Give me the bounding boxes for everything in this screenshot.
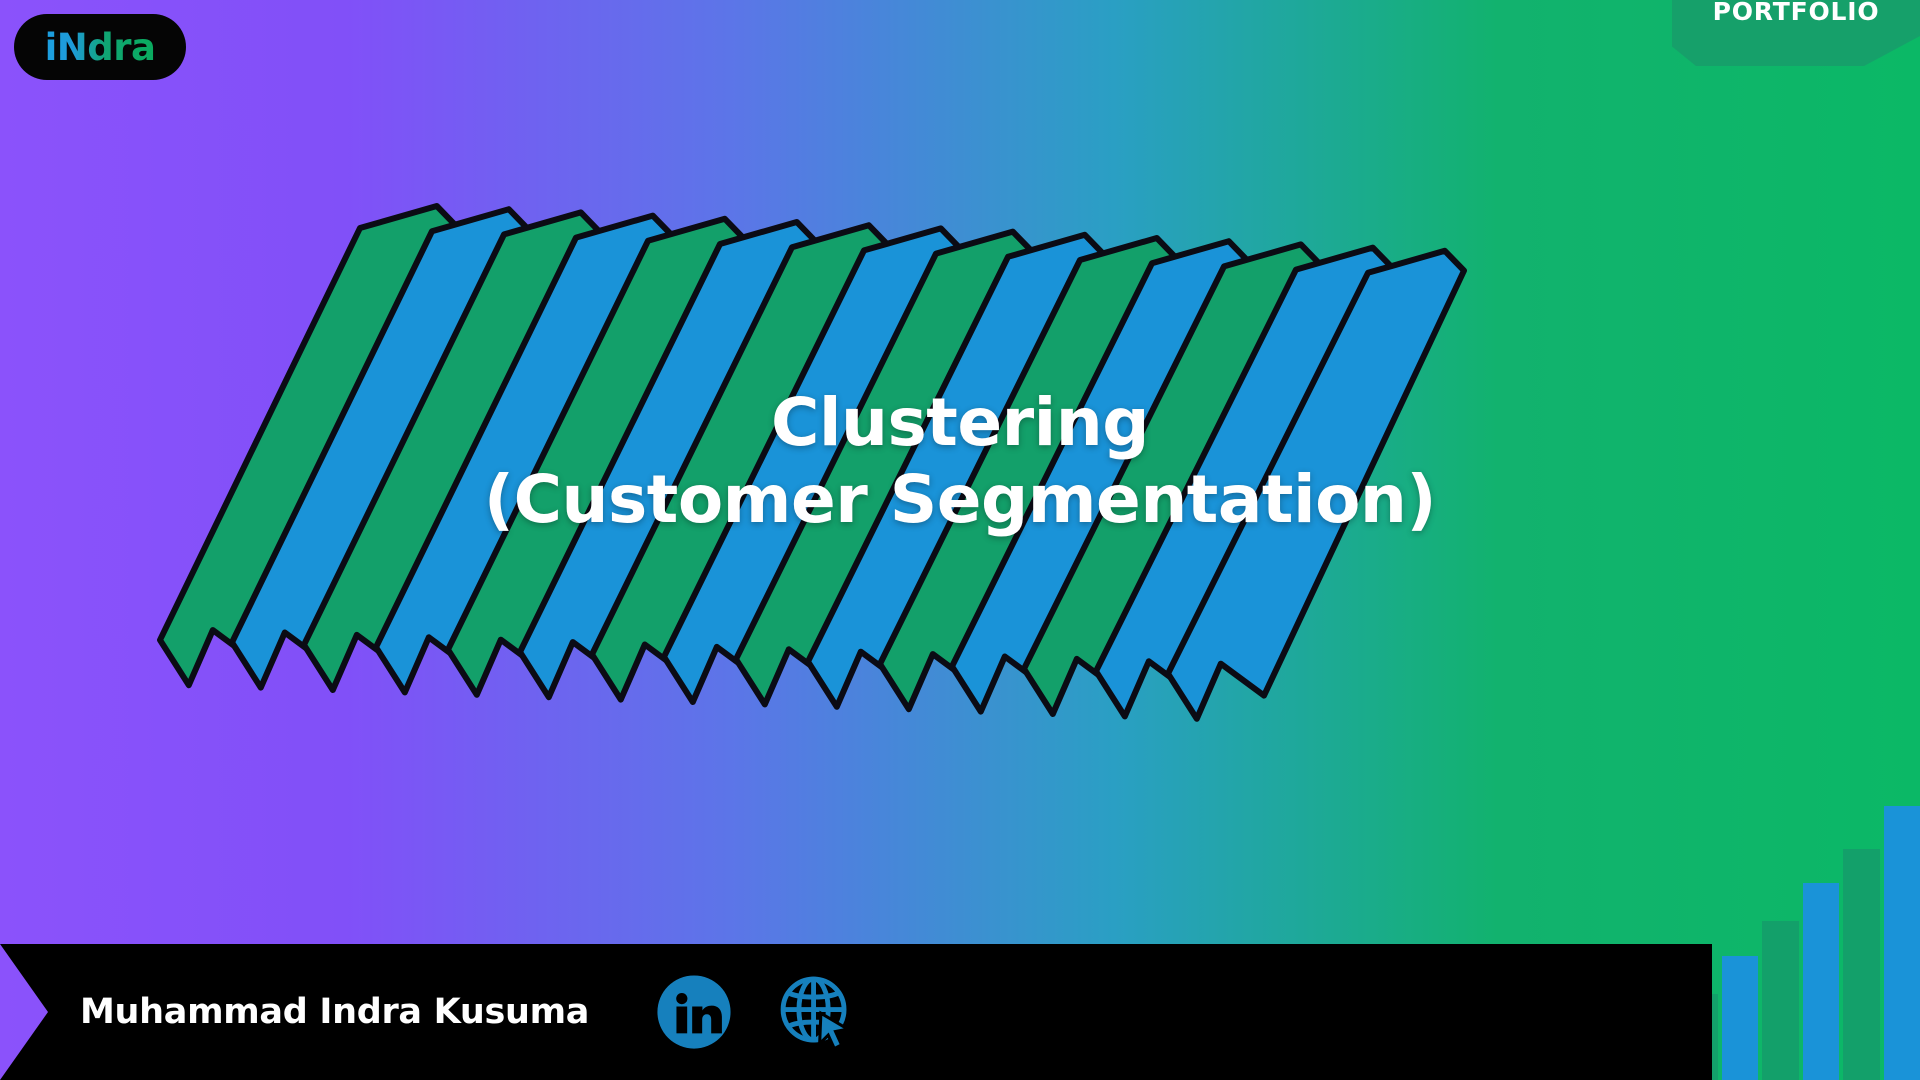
website-globe-icon[interactable] — [777, 973, 855, 1051]
social-links — [655, 973, 855, 1051]
slide-title: Clustering (Customer Segmentation) — [0, 384, 1920, 538]
brand-logo-text: iNdra — [45, 26, 156, 69]
chart-bar — [1803, 883, 1840, 1080]
slide-title-line-1: Clustering — [0, 384, 1920, 461]
footer-bar: Muhammad Indra Kusuma — [0, 944, 1712, 1080]
brand-logo[interactable]: iNdra — [14, 14, 186, 80]
slide-canvas: iNdra PORTFOLIO Clustering (Customer Seg… — [0, 0, 1920, 1080]
slide-title-line-2: (Customer Segmentation) — [0, 461, 1920, 538]
chart-bar — [1843, 849, 1880, 1080]
portfolio-badge[interactable]: PORTFOLIO — [1672, 0, 1920, 120]
chart-bar — [1884, 806, 1920, 1080]
portfolio-badge-label: PORTFOLIO — [1672, 0, 1920, 58]
author-name: Muhammad Indra Kusuma — [80, 992, 589, 1032]
linkedin-icon[interactable] — [655, 973, 733, 1051]
chart-bar — [1722, 956, 1759, 1080]
chart-bar — [1762, 921, 1799, 1080]
